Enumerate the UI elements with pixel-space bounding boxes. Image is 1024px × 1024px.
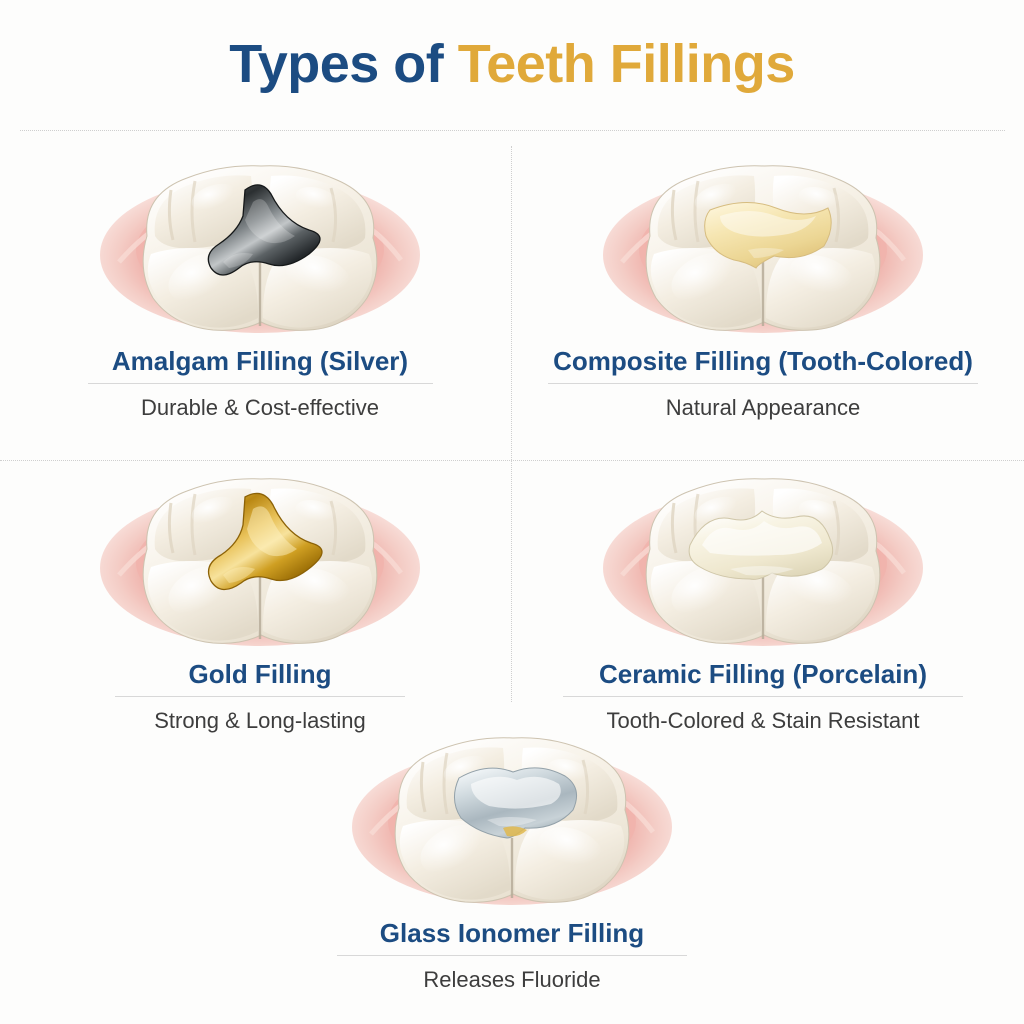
molar-tooth-icon <box>598 463 928 658</box>
caption-glass-ionomer: Glass Ionomer Filling Releases Fluoride <box>272 917 752 995</box>
molar-tooth-icon <box>347 722 677 917</box>
card-title: Composite Filling (Tooth-Colored) <box>523 345 1003 377</box>
card-ceramic[interactable]: Ceramic Filling (Porcelain) Tooth-Colore… <box>523 463 1003 736</box>
caption-amalgam: Amalgam Filling (Silver) Durable & Cost-… <box>20 345 500 423</box>
page-title: Types of Teeth Fillings <box>0 32 1024 96</box>
ceramic-porcelain-filling-icon <box>689 511 833 579</box>
title-rule <box>548 383 978 384</box>
card-subtitle: Natural Appearance <box>523 393 1003 423</box>
card-subtitle: Durable & Cost-effective <box>20 393 500 423</box>
card-amalgam[interactable]: Amalgam Filling (Silver) Durable & Cost-… <box>20 150 500 423</box>
card-subtitle: Releases Fluoride <box>272 965 752 995</box>
title-rule <box>337 955 687 956</box>
card-title: Amalgam Filling (Silver) <box>20 345 500 377</box>
card-composite[interactable]: Composite Filling (Tooth-Colored) Natura… <box>523 150 1003 423</box>
card-title: Ceramic Filling (Porcelain) <box>523 658 1003 690</box>
divider-vertical <box>511 146 512 702</box>
divider-top-horizontal <box>20 130 1005 131</box>
molar-tooth-icon <box>95 463 425 658</box>
divider-middle-horizontal <box>0 460 1024 461</box>
caption-composite: Composite Filling (Tooth-Colored) Natura… <box>523 345 1003 423</box>
card-title: Glass Ionomer Filling <box>272 917 752 949</box>
card-title: Gold Filling <box>20 658 500 690</box>
title-rule <box>115 696 405 697</box>
molar-tooth-icon <box>95 150 425 345</box>
card-glass-ionomer[interactable]: Glass Ionomer Filling Releases Fluoride <box>272 722 752 995</box>
title-part-accent: Teeth Fillings <box>458 34 795 94</box>
card-gold[interactable]: Gold Filling Strong & Long-lasting <box>20 463 500 736</box>
title-rule <box>563 696 963 697</box>
infographic-page: Types of Teeth Fillings <box>0 0 1024 1024</box>
title-rule <box>88 383 433 384</box>
molar-tooth-icon <box>598 150 928 345</box>
title-part-primary: Types of <box>229 34 458 94</box>
